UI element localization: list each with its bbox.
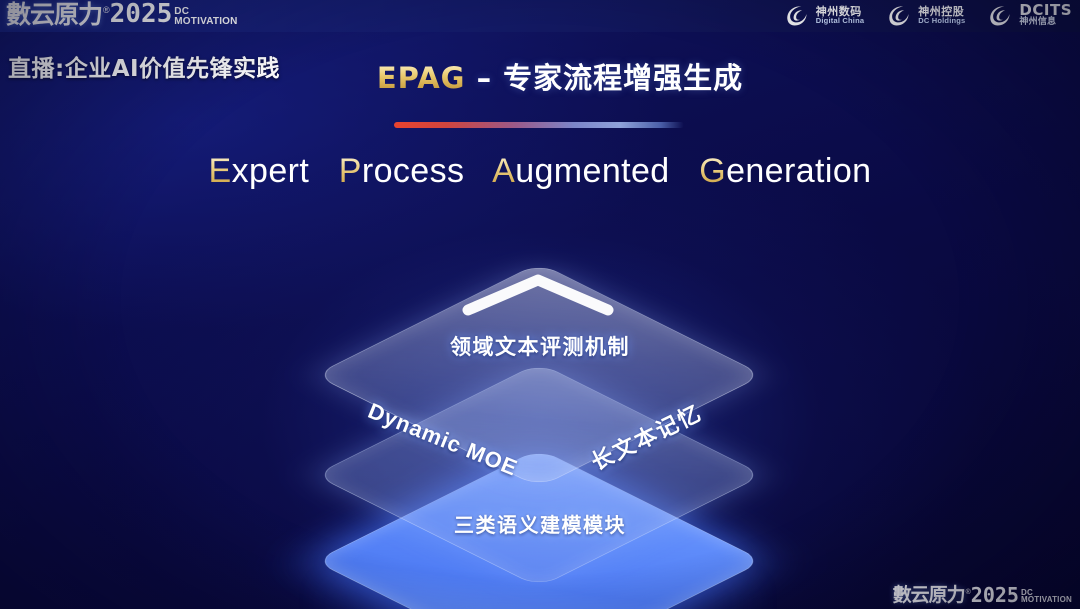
brand-logo-motivation-word: MOTIVATION xyxy=(174,17,237,27)
brand-logo: 數云原力 ® 2025 DC MOTIVATION xyxy=(6,1,238,27)
partner-name-en: DC Holdings xyxy=(918,17,965,25)
swoosh-icon xyxy=(886,3,912,27)
subtitle-word-expert: Expert xyxy=(209,152,310,190)
footer-logo-year: 2025 xyxy=(971,585,1019,605)
subtitle-rest: eneration xyxy=(726,152,871,190)
partner-name-cn: DCITS xyxy=(1019,3,1072,18)
footer-logo-motivation: DC MOTIVATION xyxy=(1021,589,1072,604)
subtitle-space xyxy=(474,152,484,190)
subtitle-cap: E xyxy=(209,152,232,190)
chevron-up-icon xyxy=(462,272,614,316)
title-separator: – xyxy=(465,61,503,95)
title-chinese: 专家流程增强生成 xyxy=(503,61,743,95)
subtitle-cap: G xyxy=(699,152,726,190)
stack-label-top: 领域文本评测机制 xyxy=(0,331,1080,361)
partner-logo-dc-holdings: 神州控股 DC Holdings xyxy=(886,3,965,27)
footer-watermark-logo: 數云原力 ® 2025 DC MOTIVATION xyxy=(893,585,1072,605)
title-acronym: EPAG xyxy=(377,61,466,95)
subtitle-rest: xpert xyxy=(232,152,310,190)
subtitle-rest: rocess xyxy=(362,152,465,190)
slide-canvas: 數云原力 ® 2025 DC MOTIVATION 直播:企业AI价值先锋实践 … xyxy=(0,0,1080,609)
partner-label: 神州控股 DC Holdings xyxy=(918,6,965,25)
partner-logo-digital-china: 神州数码 Digital China xyxy=(784,3,864,27)
subtitle-cap: P xyxy=(339,152,362,190)
partner-name-en: 神州信息 xyxy=(1019,18,1072,27)
brand-logo-year: 2025 xyxy=(110,1,173,27)
brand-registered-mark: ® xyxy=(103,6,110,15)
subtitle: Expert Process Augmented Generation xyxy=(0,152,1080,191)
subtitle-rest: ugmented xyxy=(515,152,669,190)
page-title: EPAG – 专家流程增强生成 xyxy=(0,55,1080,97)
partner-name-en: Digital China xyxy=(816,17,864,25)
partner-label: DCITS 神州信息 xyxy=(1019,3,1072,27)
partner-label: 神州数码 Digital China xyxy=(816,6,864,25)
subtitle-space xyxy=(679,152,689,190)
partner-logo-group: 神州数码 Digital China 神州控股 DC Holdings xyxy=(784,3,1072,27)
swoosh-icon xyxy=(784,3,810,27)
brand-logo-motivation: DC MOTIVATION xyxy=(174,7,237,26)
subtitle-word-augmented: Augmented xyxy=(492,152,670,190)
footer-logo-cn: 數云原力 xyxy=(893,586,965,605)
subtitle-space xyxy=(319,152,329,190)
brand-logo-cn: 數云原力 xyxy=(6,2,102,27)
partner-logo-dcits: DCITS 神州信息 xyxy=(987,3,1072,27)
footer-logo-motivation-word: MOTIVATION xyxy=(1021,596,1072,604)
subtitle-word-process: Process xyxy=(339,152,465,190)
stack-label-bottom: 三类语义建模模块 xyxy=(0,509,1080,538)
footer-registered-mark: ® xyxy=(966,589,971,596)
accent-divider xyxy=(394,122,684,128)
swoosh-icon xyxy=(987,3,1013,27)
subtitle-word-generation: Generation xyxy=(699,152,871,190)
subtitle-cap: A xyxy=(492,152,515,190)
